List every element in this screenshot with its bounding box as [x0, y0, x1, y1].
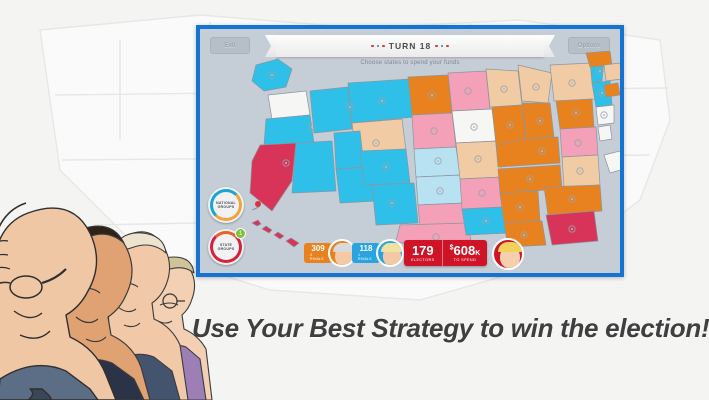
electors-cell: 179 ELECTORS: [404, 240, 442, 266]
options-label: Options: [578, 43, 601, 49]
electors-caption: ELECTORS: [411, 258, 435, 262]
turn-text: TURN 18: [389, 41, 431, 51]
national-groups-label: NATIONAL GROUPS: [216, 201, 236, 210]
hud-bar: 309 3 RIVALS 118 1 RIVALS 179 ELECTORS $…: [200, 239, 620, 269]
player-avatar[interactable]: [492, 238, 524, 270]
state-groups-label: STATE GROUPS: [218, 243, 235, 252]
turn-label-group: TURN 18: [371, 41, 448, 51]
score-panel: 179 ELECTORS $608K TO SPEND: [404, 240, 487, 266]
democrat-caption: 1 RIVALS: [358, 254, 374, 261]
map-marker-icon: [252, 201, 261, 210]
funds-value: $608K: [450, 244, 481, 257]
republican-caption: 3 RIVALS: [310, 254, 326, 261]
funds-caption: TO SPEND: [454, 258, 477, 262]
game-viewport: Exit Options TURN 18 Choose states to sp…: [200, 29, 620, 273]
electoral-map[interactable]: [200, 51, 624, 251]
democrat-avatar[interactable]: [376, 239, 404, 267]
state-groups-badge: 1: [235, 228, 246, 239]
candidate-caricatures: [0, 135, 215, 400]
banner-dots-left: [371, 45, 385, 48]
funds-cell: $608K TO SPEND: [442, 240, 488, 266]
democrat-value: 118: [360, 245, 373, 253]
game-screenshot-panel: Exit Options TURN 18 Choose states to sp…: [196, 25, 624, 277]
banner-dots-right: [435, 45, 449, 48]
republican-value: 309: [311, 245, 324, 253]
exit-label: Exit: [224, 43, 235, 49]
electors-value: 179: [412, 244, 434, 257]
tagline-caption: Use Your Best Strategy to win the electi…: [192, 313, 709, 344]
